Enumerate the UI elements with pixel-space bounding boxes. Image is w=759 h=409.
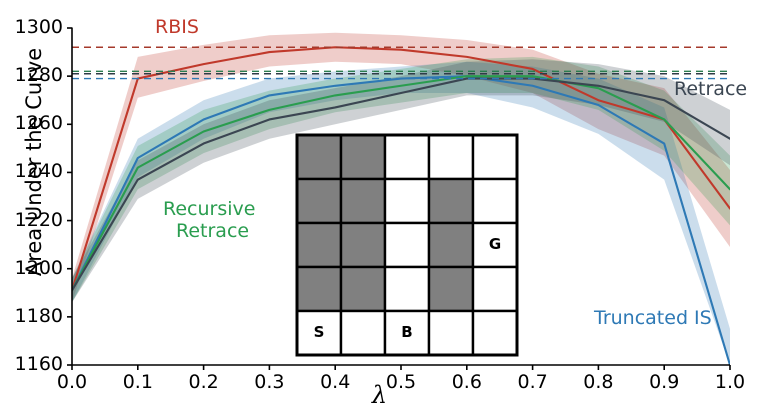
gridworld-free-cell <box>429 311 473 355</box>
gridworld-free-cell <box>385 267 429 311</box>
gridworld-wall-cell <box>341 267 385 311</box>
y-axis-label: Area Under the Curve <box>22 32 46 292</box>
plot-canvas <box>0 0 759 408</box>
gridworld-wall-cell <box>429 179 473 223</box>
gridworld-cell-label-s: S <box>297 323 341 341</box>
gridworld-free-cell <box>473 179 517 223</box>
series-annotation-truncated-is: Truncated IS <box>594 307 712 329</box>
gridworld-free-cell <box>429 135 473 179</box>
series-annotation-retrace: Retrace <box>176 220 249 242</box>
gridworld-wall-cell <box>341 179 385 223</box>
series-annotation-retrace: Retrace <box>674 78 747 100</box>
gridworld-wall-cell <box>297 267 341 311</box>
gridworld-wall-cell <box>341 223 385 267</box>
gridworld-wall-cell <box>297 179 341 223</box>
gridworld-free-cell <box>341 311 385 355</box>
gridworld-cell-label-g: G <box>473 235 517 253</box>
x-axis-label: λ <box>0 381 759 409</box>
series-annotation-rbis: RBIS <box>155 16 199 38</box>
gridworld-wall-cell <box>297 223 341 267</box>
gridworld-free-cell <box>473 311 517 355</box>
gridworld-wall-cell <box>429 223 473 267</box>
gridworld-free-cell <box>385 223 429 267</box>
gridworld-free-cell <box>473 267 517 311</box>
gridworld-free-cell <box>385 135 429 179</box>
auc-vs-lambda-figure: 116011801200122012401260128013000.00.10.… <box>0 0 759 408</box>
gridworld-free-cell <box>473 135 517 179</box>
gridworld-cell-label-b: B <box>385 323 429 341</box>
gridworld-free-cell <box>385 179 429 223</box>
gridworld-wall-cell <box>429 267 473 311</box>
series-annotation-recursive: Recursive <box>163 198 255 220</box>
gridworld-wall-cell <box>341 135 385 179</box>
y-tick-label: 1180 <box>15 305 63 327</box>
gridworld-wall-cell <box>297 135 341 179</box>
